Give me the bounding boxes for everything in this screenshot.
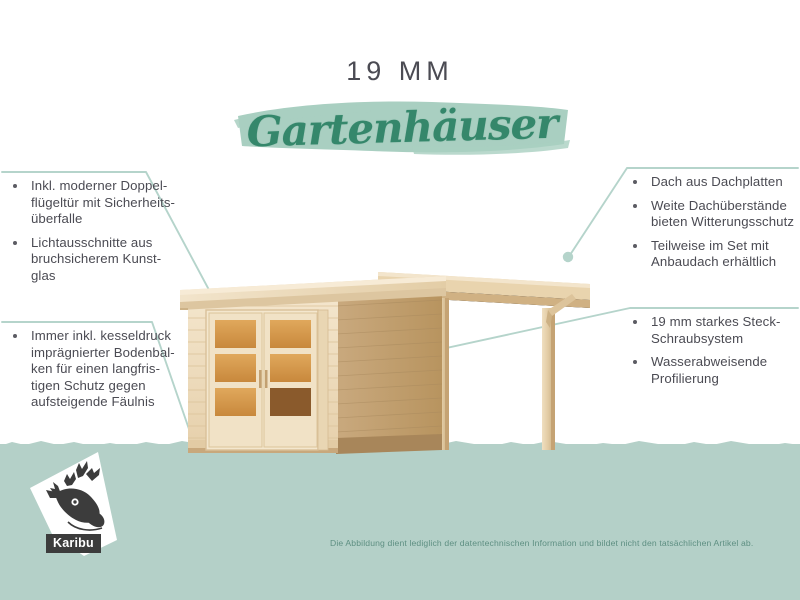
callout-bottom-left-list: Immer inkl. kesseldruck imprägnierter Bo… [8, 328, 183, 411]
infographic-canvas: 19 MM Gartenhäuser [0, 0, 800, 600]
callout-top-right-list: Dach aus Dachplatten Weite Dachüberständ… [628, 174, 800, 271]
list-item: Teilweise im Set mit Anbaudach erhältlic… [628, 238, 800, 271]
callout-top-left-list: Inkl. moderner Doppel-flügeltür mit Sich… [8, 178, 178, 285]
disclaimer-text: Die Abbildung dient lediglich der datent… [330, 538, 790, 548]
list-item: Wasserabweisende Profilierung [628, 354, 800, 387]
side-wall [336, 286, 442, 454]
double-glass-door [206, 310, 328, 450]
logo-wordmark: Karibu [46, 534, 101, 553]
list-item: Lichtausschnitte aus bruchsicherem Kunst… [8, 235, 178, 285]
list-item: 19 mm starkes Steck-Schraubsystem [628, 314, 800, 347]
list-item: Immer inkl. kesseldruck imprägnierter Bo… [8, 328, 183, 411]
list-item: Weite Dachüberstände bieten Witterungssc… [628, 198, 800, 231]
callout-top-left: Inkl. moderner Doppel-flügeltür mit Sich… [8, 178, 178, 292]
support-posts [436, 294, 576, 450]
callout-bottom-right: 19 mm starkes Steck-Schraubsystem Wasser… [628, 314, 800, 394]
callout-top-right: Dach aus Dachplatten Weite Dachüberständ… [628, 174, 800, 278]
list-item: Dach aus Dachplatten [628, 174, 800, 191]
garden-house-illustration [180, 250, 600, 455]
list-item: Inkl. moderner Doppel-flügeltür mit Sich… [8, 178, 178, 228]
callout-bottom-left: Immer inkl. kesseldruck imprägnierter Bo… [8, 328, 183, 418]
callout-bottom-right-list: 19 mm starkes Steck-Schraubsystem Wasser… [628, 314, 800, 387]
